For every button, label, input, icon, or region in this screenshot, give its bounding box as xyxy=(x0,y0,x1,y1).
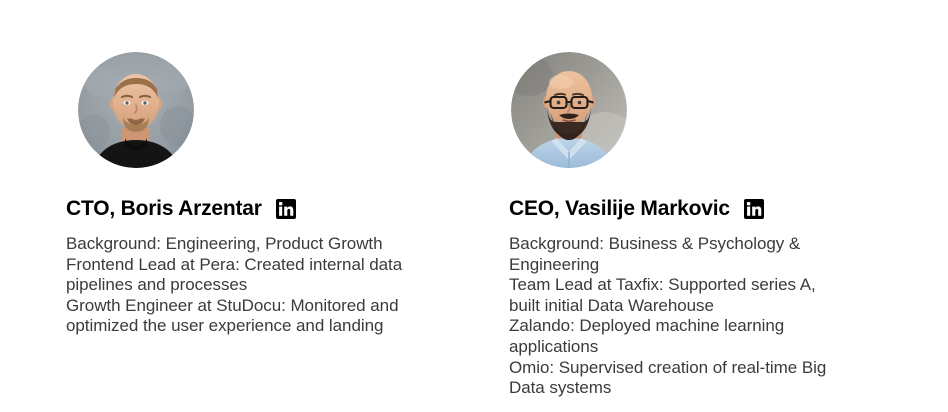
bio-line: Background: Business & Psychology & Engi… xyxy=(509,234,851,275)
bio-line: Growth Engineer at StuDocu: Monitored an… xyxy=(66,296,406,337)
bio-line: Zalando: Deployed machine learning appli… xyxy=(509,316,851,357)
avatar xyxy=(511,52,627,168)
avatar xyxy=(78,52,194,168)
profile-name-row: CTO, Boris Arzentar xyxy=(66,196,296,222)
person-name: CEO, Vasilije Markovic xyxy=(509,196,730,222)
bio-line: Frontend Lead at Pera: Created internal … xyxy=(66,255,406,296)
linkedin-icon[interactable] xyxy=(276,199,296,219)
profile-name-row: CEO, Vasilije Markovic xyxy=(509,196,764,222)
profile-bio: Background: Engineering, Product Growth … xyxy=(66,234,406,337)
team-bios-section: CTO, Boris Arzentar Background: Engineer… xyxy=(0,0,948,412)
linkedin-icon[interactable] xyxy=(744,199,764,219)
bio-line: Background: Engineering, Product Growth xyxy=(66,234,406,255)
profile-bio: Background: Business & Psychology & Engi… xyxy=(509,234,851,399)
person-name: CTO, Boris Arzentar xyxy=(66,196,262,222)
bio-line: Omio: Supervised creation of real-time B… xyxy=(509,358,851,399)
bio-line: Team Lead at Taxfix: Supported series A,… xyxy=(509,275,851,316)
